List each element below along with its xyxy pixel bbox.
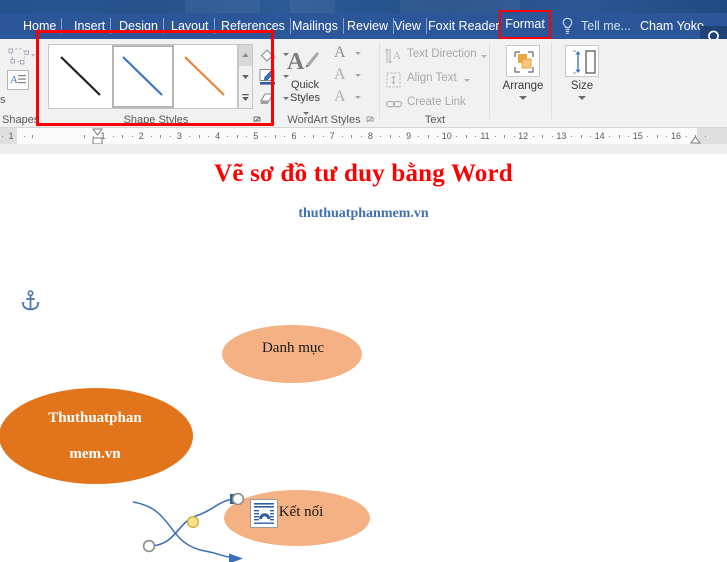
ruler-tick [504,135,505,138]
title-bar-texture [185,0,260,13]
group-divider [489,43,490,119]
chevron-down-icon[interactable] [578,96,586,100]
ruler-tick [609,136,610,137]
window-title-bar [0,0,727,13]
ruler-tick [552,136,553,137]
chevron-down-icon[interactable] [355,52,361,55]
ruler-tick [514,136,515,137]
chevron-down-icon[interactable] [481,55,487,58]
ruler-tick [284,136,285,137]
tab-insert[interactable]: Insert [68,13,111,39]
ruler-number: 8 [368,131,373,141]
ruler-tick [313,135,314,138]
ruler-number: 13 [556,131,566,141]
tab-format[interactable]: Format [501,12,549,37]
svg-text:A: A [287,49,305,74]
ribbon-group-arrange: Arrange [492,39,554,128]
group-label-wordart-styles: WordArt Styles [275,114,373,126]
quick-styles-label-line2: Styles [281,92,329,105]
gallery-scrollbar[interactable] [238,44,253,109]
branch-node-bottom-shape[interactable] [224,490,370,546]
ruler-number: 14 [595,131,605,141]
svg-text:A: A [393,50,401,62]
document-canvas[interactable]: Vẽ sơ đồ tư duy bằng Word thuthuatphanme… [0,154,727,562]
ruler-number: 6 [291,131,296,141]
ruler-tick [122,135,123,138]
ruler-tick [304,136,305,137]
ruler-number: 5 [253,131,258,141]
size-shape-icon [566,46,600,78]
ruler-tick [542,135,543,138]
shapes-group-partial-text: s [0,94,6,106]
svg-text:A: A [10,74,18,86]
ruler-number: 7 [330,131,335,141]
ruler-tick [132,136,133,137]
ruler-tick [275,135,276,138]
horizontal-ruler[interactable]: 112345678910111213141516 [0,128,727,144]
mind-map-diagram[interactable] [0,154,727,562]
quick-styles-label-line1: Quick [281,79,329,92]
ruler-tick [399,136,400,137]
group-label-text: Text [381,114,489,126]
ruler-tick [571,136,572,137]
group-divider [379,43,380,119]
ruler-tick [151,136,152,137]
layout-options-icon[interactable] [250,499,278,528]
wordart-styles-dialog-launcher[interactable] [366,116,375,125]
shape-styles-gallery[interactable] [48,44,238,109]
scroll-down-icon[interactable] [239,66,252,87]
tab-references[interactable]: References [215,13,291,39]
tab-mailings[interactable]: Mailings [286,13,344,39]
arrange-label: Arrange [492,80,554,92]
ruler-tick [24,136,25,137]
tab-format-highlight-box: Format [499,10,551,39]
text-fill-A-icon: A [334,44,346,62]
ruler-tick [619,135,620,138]
tab-home[interactable]: Home [17,13,62,39]
tab-layout[interactable]: Layout [165,13,215,39]
quick-styles-button[interactable]: A Quick Styles [281,44,329,110]
ruler-tick [351,135,352,138]
gallery-more-icon[interactable] [239,87,252,108]
connector-adjust-handle[interactable] [188,517,199,528]
ruler-bottom-strip [0,144,727,154]
text-direction-icon: A [385,47,403,65]
ruler-number: 16 [671,131,681,141]
chevron-down-icon[interactable] [519,96,527,100]
ruler-right-margin [697,128,727,144]
size-label: Size [554,80,610,92]
ribbon-tab-strip[interactable]: Home Insert Design Layout References Mai… [0,13,727,39]
ruler-tick [380,136,381,137]
ruler-number: 3 [177,131,182,141]
group-divider [273,43,274,119]
scroll-up-icon[interactable] [239,45,252,66]
ruler-tick [428,135,429,138]
ruler-number: 9 [406,131,411,141]
ruler-number: 2 [139,131,144,141]
tab-design[interactable]: Design [113,13,164,39]
connector-start-handle[interactable] [144,541,155,552]
ruler-tick [199,135,200,138]
ruler-tick [170,136,171,137]
title-bar-texture [290,0,335,13]
ruler-number: 10 [442,131,452,141]
shape-styles-dialog-launcher[interactable] [253,116,262,125]
shape-style-black-line[interactable] [50,45,112,108]
ruler-tick [437,136,438,137]
ruler-tick [323,136,324,137]
ruler-number: 15 [633,131,643,141]
ruler-tick [418,136,419,137]
text-outline-A-icon: A [334,66,346,84]
ruler-number: 1 [8,131,13,141]
align-text-icon [385,71,403,89]
ruler-tick [361,136,362,137]
ruler-tick [246,136,247,137]
ruler-tick [686,136,687,137]
arrange-button[interactable] [506,45,540,77]
ruler-tick [390,135,391,138]
ribbon-group-size: Size [554,39,610,128]
create-link-icon [385,95,403,113]
ruler-tick [475,136,476,137]
text-effects-A-icon: A [334,88,346,106]
chevron-down-icon[interactable] [355,74,361,77]
text-fill-button[interactable]: A [331,44,371,65]
ruler-tick [265,136,266,137]
arrange-objects-icon [507,46,541,78]
draw-text-box-icon[interactable]: A [7,70,29,90]
create-link-label: Create Link [407,96,466,108]
shape-style-orange-line[interactable] [174,45,236,108]
ruler-tick [657,135,658,138]
chevron-down-icon[interactable] [355,96,361,99]
text-effects-button[interactable]: A [331,88,371,109]
text-outline-button[interactable]: A [331,66,371,87]
shape-style-blue-line[interactable] [112,45,174,108]
ruler-tick [666,136,667,137]
ruler-tick [495,136,496,137]
branch-node-top-shape[interactable] [222,325,362,383]
ruler-number: 11 [480,131,489,141]
ruler-tick [533,136,534,137]
first-line-indent-marker[interactable] [92,128,103,136]
ruler-tick [84,135,85,138]
ruler-tick [113,136,114,137]
connector-end-handle[interactable] [233,494,244,505]
size-button[interactable] [565,45,599,77]
wordart-A-brush-icon: A [286,46,324,74]
ruler-tick [2,136,3,137]
ruler-tick [581,135,582,138]
ruler-number: 4 [215,131,220,141]
ruler-number: 12 [518,131,528,141]
right-indent-marker[interactable] [690,136,701,144]
tell-me-search-box[interactable]: Tell me... [575,13,637,39]
center-node-shape[interactable] [0,388,193,484]
edit-shape-icon[interactable] [5,45,35,67]
ruler-tick [227,136,228,137]
ruler-tick [590,136,591,137]
ruler-tick [237,135,238,138]
ribbon: A s Shapes [0,39,727,128]
ruler-tick [628,136,629,137]
ruler-tick [208,136,209,137]
ruler-tick [189,136,190,137]
ruler-tick [647,136,648,137]
ruler-tick [705,136,706,137]
align-text-label: Align Text [407,72,457,84]
ruler-tick [342,136,343,137]
tab-review[interactable]: Review [341,13,394,39]
ruler-tick [456,136,457,137]
ruler-tick [32,135,33,138]
lightbulb-icon [561,17,574,35]
group-label-shape-styles: Shape Styles [40,114,272,126]
chevron-down-icon[interactable] [464,79,470,82]
group-label-shapes: Shapes [2,114,39,126]
ruler-tick [466,135,467,138]
group-divider [551,43,552,119]
ruler-tick [160,135,161,138]
text-direction-label: Text Direction [407,48,477,60]
account-name[interactable]: Cham Yoko [634,13,710,39]
